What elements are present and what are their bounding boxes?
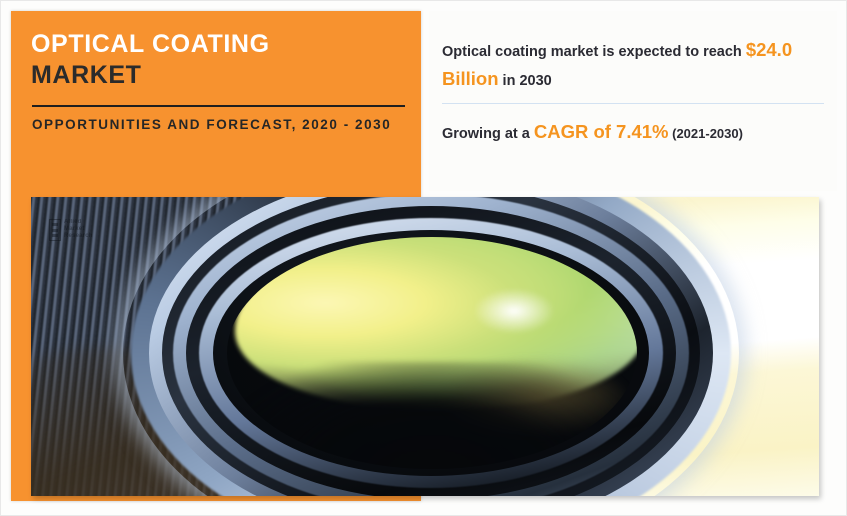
watermark-logo: Allied Market Research (49, 219, 93, 241)
cagr-statement: Growing at a CAGR of 7.41% (2021-2030) (442, 121, 832, 143)
watermark-text: Allied Market Research (64, 219, 93, 241)
cagr-value: CAGR of 7.41% (534, 121, 669, 142)
report-subtitle: OPPORTUNITIES AND FORECAST, 2020 - 2030 (32, 115, 412, 136)
lens-shadow (227, 362, 637, 469)
watermark-line-3: Research (64, 233, 93, 239)
watermark-line-1: Allied (64, 219, 82, 225)
lens-highlight (473, 288, 555, 334)
highlights-divider (442, 103, 824, 104)
highlights-panel: Optical coating market is expected to re… (429, 11, 837, 191)
watermark-line-2: Market (64, 226, 85, 232)
watermark-mark-icon (49, 219, 61, 241)
cagr-period: (2021-2030) (669, 126, 743, 141)
title-divider (32, 105, 405, 107)
market-size-prefix: Optical coating market is expected to re… (442, 44, 746, 60)
report-title-secondary: MARKET (31, 60, 411, 91)
market-size-suffix: in 2030 (499, 73, 552, 89)
lens-photo: Allied Market Research (31, 197, 819, 496)
page-title: OPTICAL COATING MARKET (31, 29, 411, 91)
report-title-primary: OPTICAL COATING (31, 29, 411, 60)
cagr-prefix: Growing at a (442, 126, 534, 142)
market-size-statement: Optical coating market is expected to re… (442, 36, 827, 93)
lens-glass (227, 237, 637, 469)
infographic-card: OPTICAL COATING MARKET OPPORTUNITIES AND… (0, 0, 847, 516)
